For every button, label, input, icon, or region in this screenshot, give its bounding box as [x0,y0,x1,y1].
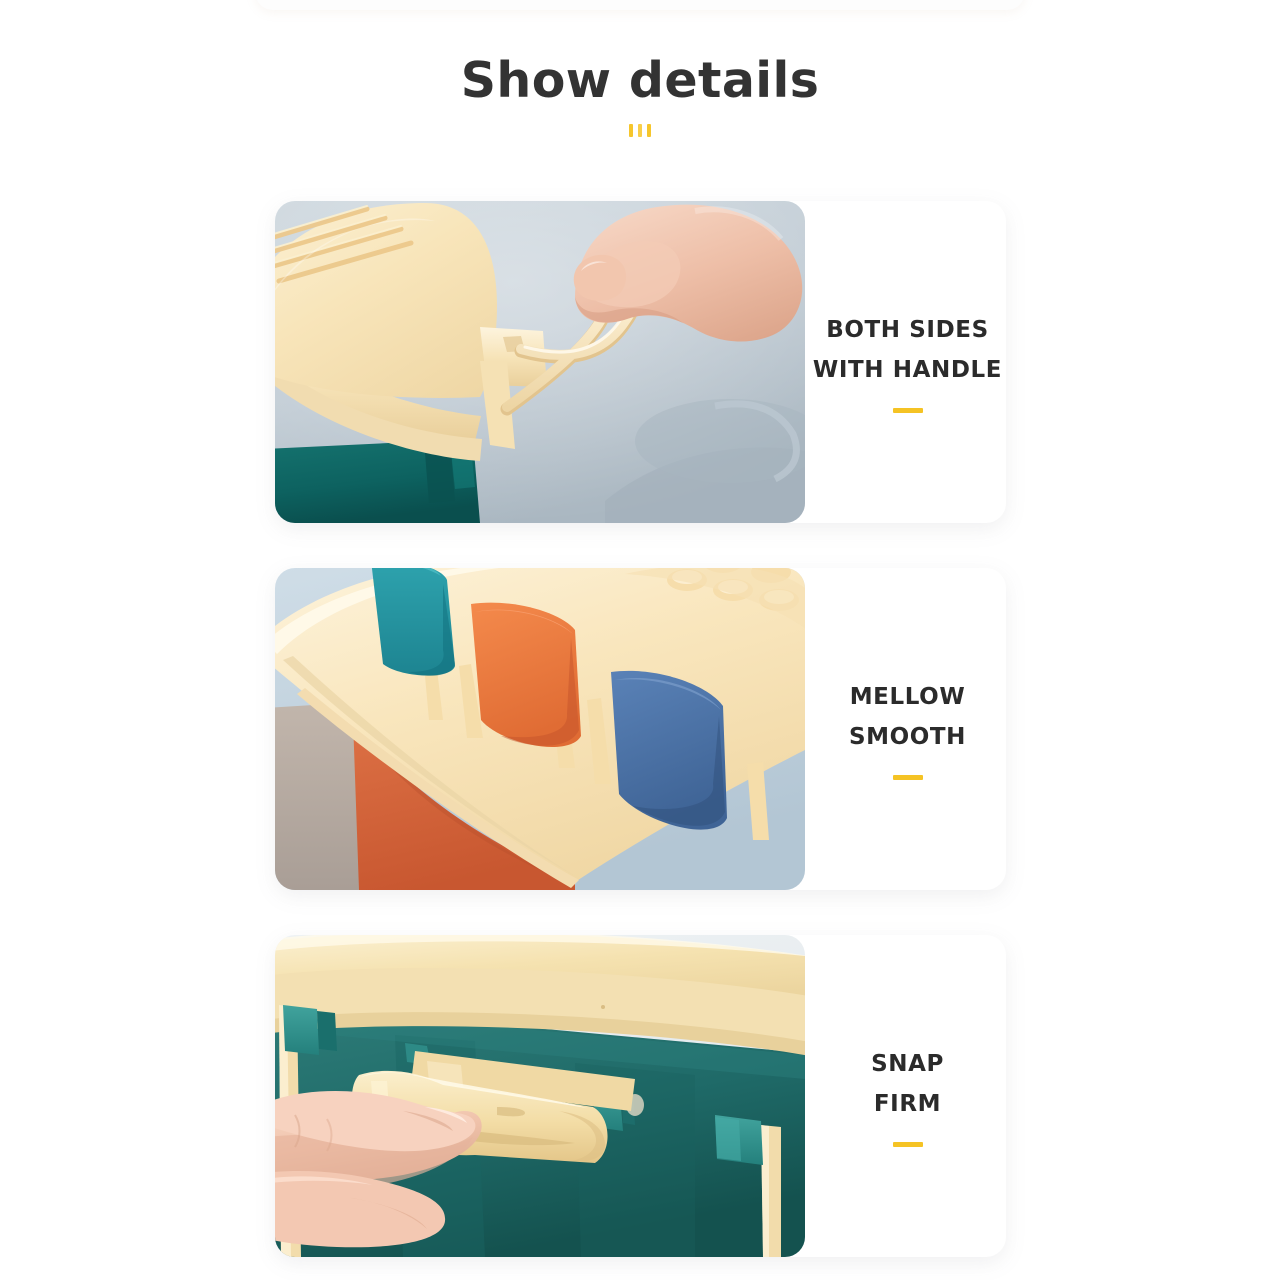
card-headline-line-1: SNAP [871,1045,944,1085]
card-accent-rule [893,775,923,780]
hand-lifting-carrier-handle-photo [275,201,805,523]
card-accent-rule [893,1142,923,1147]
section-header: Show details [0,52,1280,137]
tick-3 [647,124,651,137]
detail-card-mellow-smooth[interactable]: MELLOW SMOOTH [275,568,1006,890]
tick-2 [638,124,642,137]
hand-pulling-snap-latch-photo [275,935,805,1257]
card-headline-line-2: WITH HANDLE [813,351,1002,391]
colored-clip-tabs-rim-photo [275,568,805,890]
card-headline-line-1: BOTH SIDES [826,311,989,351]
card-text-block: SNAP FIRM [805,935,1006,1257]
card-headline-line-2: SMOOTH [849,718,966,758]
detail-card-both-sides-with-handle[interactable]: BOTH SIDES WITH HANDLE [275,201,1006,523]
card-text-block: BOTH SIDES WITH HANDLE [805,201,1006,523]
detail-card-list: BOTH SIDES WITH HANDLE [275,201,1006,1257]
card-accent-rule [893,408,923,413]
three-ticks-divider-icon [0,124,1280,137]
previous-section-edge [255,0,1025,10]
card-headline-line-2: FIRM [874,1085,941,1125]
page-title: Show details [0,52,1280,110]
detail-card-snap-firm[interactable]: SNAP FIRM [275,935,1006,1257]
tick-1 [629,124,633,137]
product-detail-page: Show details [0,0,1280,1280]
card-text-block: MELLOW SMOOTH [805,568,1006,890]
card-headline-line-1: MELLOW [850,678,966,718]
